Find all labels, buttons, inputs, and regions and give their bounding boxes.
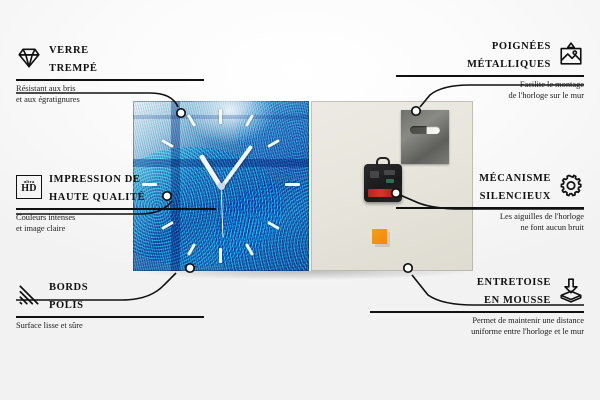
callout-title-line2: TREMPÉ [49, 63, 98, 74]
clock-tick [219, 109, 222, 124]
clock-tick [267, 221, 280, 230]
moire-swirl-2 [213, 179, 309, 271]
callout-title: IMPRESSION DE HAUTE QUALITÉ [49, 169, 145, 205]
callout-description-line2: et aux égratignures [16, 95, 204, 106]
battery [368, 189, 397, 197]
callout-title: MÉCANISME SILENCIEUX [479, 168, 551, 204]
callout-header: ultra HD IMPRESSION DE HAUTE QUALITÉ [16, 169, 216, 205]
polished-edge-icon [16, 282, 42, 308]
callout-description-line1: Les aiguilles de l'horloge [396, 212, 584, 223]
callout-header: MÉCANISME SILENCIEUX [396, 168, 584, 204]
callout-rule [16, 208, 216, 210]
clock-second-hand [220, 187, 223, 237]
movement-hanging-loop [376, 157, 390, 167]
gear-icon [558, 173, 584, 199]
ultra-hd-icon-big-text: HD [21, 184, 37, 194]
movement-detail [386, 179, 394, 183]
hanger-keyhole-slot [410, 126, 440, 134]
clock-tick [245, 243, 254, 256]
foam-spacer-arrow-icon [558, 277, 584, 303]
callout-description-line1: Surface lisse et sûre [16, 321, 204, 332]
callout-header: VERRE TREMPÉ [16, 40, 204, 76]
callout-description-line2: uniforme entre l'horloge et le mur [370, 327, 584, 338]
callout-description-line1: Facilite le montage [396, 80, 584, 91]
clock-tick [187, 243, 196, 256]
highlight-glow [185, 101, 275, 145]
callout-title-line2: MÉTALLIQUES [467, 59, 551, 70]
callout-title-line2: SILENCIEUX [480, 191, 551, 202]
callout-mecanisme-silencieux: MÉCANISME SILENCIEUX Les aiguilles de l'… [396, 168, 584, 233]
callout-title-line1: IMPRESSION DE [49, 174, 141, 185]
callout-rule [396, 207, 584, 209]
callout-title-line1: MÉCANISME [479, 173, 551, 184]
callout-title-line1: POIGNÉES [492, 41, 551, 52]
callout-title-line2: POLIS [49, 300, 84, 311]
callout-title: VERRE TREMPÉ [49, 40, 98, 76]
callout-description-line1: Couleurs intenses [16, 213, 216, 224]
callout-header: BORDS POLIS [16, 277, 204, 313]
callout-title: BORDS POLIS [49, 277, 88, 313]
callout-rule [16, 316, 204, 318]
callout-bords-polis: BORDS POLIS Surface lisse et sûre [16, 277, 204, 332]
metal-hanger-plate [401, 110, 449, 164]
callout-description-line2: ne font aucun bruit [396, 223, 584, 234]
callout-poignees-metalliques: POIGNÉES MÉTALLIQUES Facilite le montage… [396, 36, 584, 101]
callout-description-line2: de l'horloge sur le mur [396, 91, 584, 102]
foam-spacer [372, 229, 387, 244]
movement-detail [384, 170, 395, 175]
callout-rule [396, 75, 584, 77]
callout-rule [16, 79, 204, 81]
movement-detail [370, 171, 379, 178]
callout-impression-haute-qualite: ultra HD IMPRESSION DE HAUTE QUALITÉ Cou… [16, 169, 216, 234]
callout-title: ENTRETOISE EN MOUSSE [477, 272, 551, 308]
callout-title: POIGNÉES MÉTALLIQUES [467, 36, 551, 72]
ultra-hd-icon: ultra HD [16, 175, 42, 199]
clock-tick [219, 248, 222, 263]
infographic-canvas: VERRE TREMPÉ Résistant aux bris et aux é… [0, 0, 600, 400]
callout-description-line2: et image claire [16, 224, 216, 235]
callout-description-line1: Permet de maintenir une distance [370, 316, 584, 327]
clock-hand-cap [218, 183, 225, 190]
clock-tick [285, 183, 300, 186]
callout-header: POIGNÉES MÉTALLIQUES [396, 36, 584, 72]
callout-title-line2: HAUTE QUALITÉ [49, 192, 145, 203]
callout-description-line1: Résistant aux bris [16, 84, 204, 95]
print-band-horizontal [133, 159, 309, 167]
callout-title-line1: VERRE [49, 45, 89, 56]
callout-rule [370, 311, 584, 313]
picture-frame-hanger-icon [558, 41, 584, 67]
callout-title-line1: BORDS [49, 282, 88, 293]
callout-entretoise-en-mousse: ENTRETOISE EN MOUSSE Permet de maintenir… [370, 272, 584, 337]
callout-title-line2: EN MOUSSE [484, 295, 551, 306]
callout-header: ENTRETOISE EN MOUSSE [370, 272, 584, 308]
callout-verre-trempe: VERRE TREMPÉ Résistant aux bris et aux é… [16, 40, 204, 105]
callout-title-line1: ENTRETOISE [477, 277, 551, 288]
diamond-icon [16, 45, 42, 71]
